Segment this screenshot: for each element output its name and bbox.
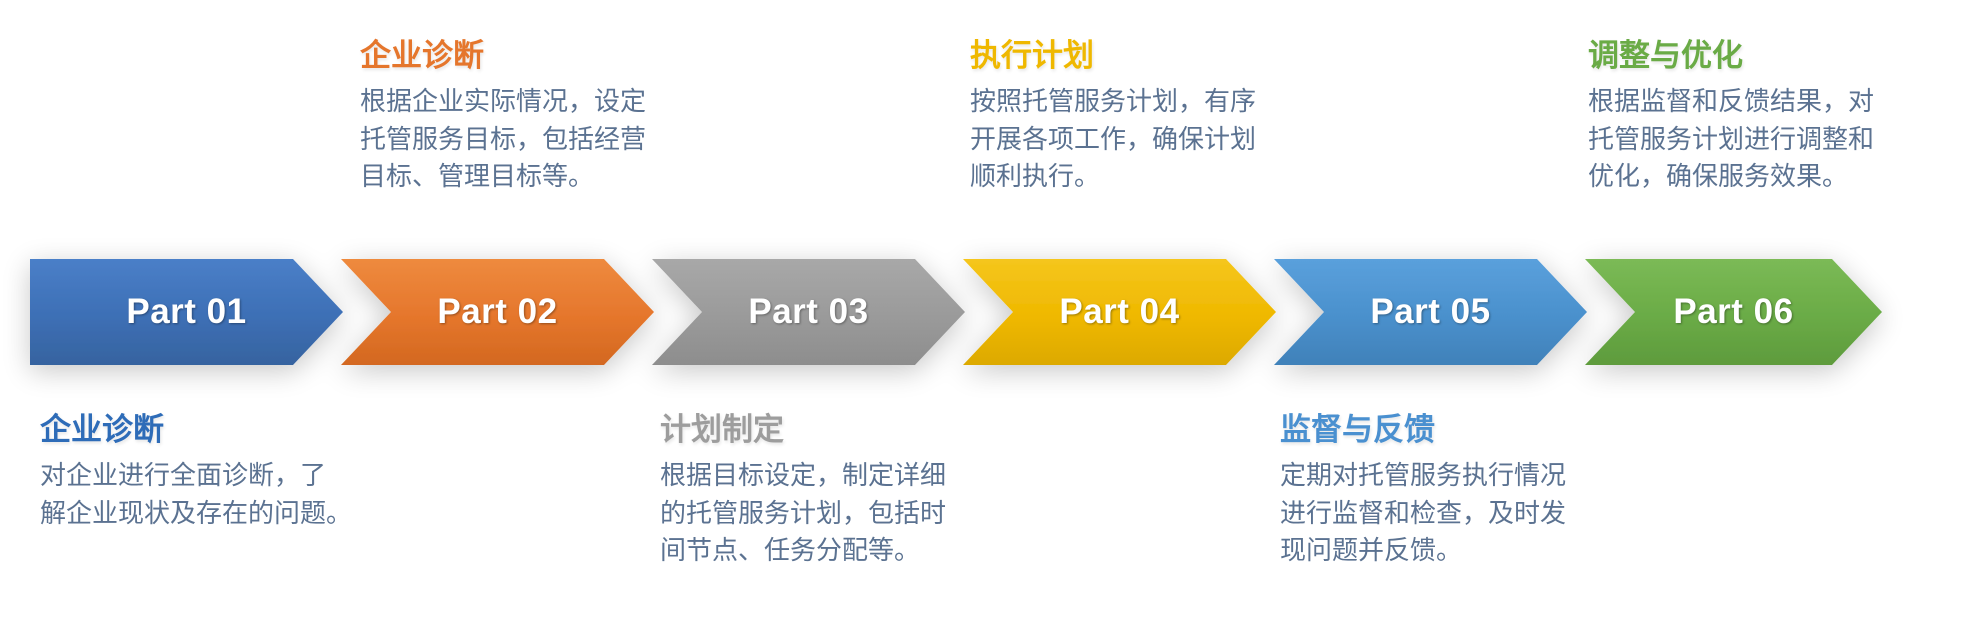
body-line: 现问题并反馈。 bbox=[1280, 532, 1610, 570]
chevron-shape-part-02[interactable] bbox=[341, 259, 654, 365]
body-line: 对企业进行全面诊断，了 bbox=[40, 457, 370, 495]
chevron-shape-part-05[interactable] bbox=[1274, 259, 1587, 365]
body-line: 按照托管服务计划，有序 bbox=[970, 83, 1300, 121]
body-line: 定期对托管服务执行情况 bbox=[1280, 457, 1610, 495]
block-body-part-05: 定期对托管服务执行情况 进行监督和检查，及时发 现问题并反馈。 bbox=[1280, 457, 1610, 571]
text-block-part-06: 调整与优化 根据监督和反馈结果，对 托管服务计划进行调整和 优化，确保服务效果。 bbox=[1588, 38, 1918, 196]
chevron-shape-part-01[interactable] bbox=[30, 259, 343, 365]
block-title-part-06: 调整与优化 bbox=[1588, 38, 1918, 75]
block-title-part-01: 企业诊断 bbox=[40, 412, 370, 449]
body-line: 托管服务目标，包括经营 bbox=[360, 121, 690, 159]
block-body-part-02: 根据企业实际情况，设定 托管服务目标，包括经营 目标、管理目标等。 bbox=[360, 83, 690, 197]
text-block-part-02: 企业诊断 根据企业实际情况，设定 托管服务目标，包括经营 目标、管理目标等。 bbox=[360, 38, 690, 196]
block-title-part-04: 执行计划 bbox=[970, 38, 1300, 75]
body-line: 目标、管理目标等。 bbox=[360, 158, 690, 196]
block-body-part-04: 按照托管服务计划，有序 开展各项工作，确保计划 顺利执行。 bbox=[970, 83, 1300, 197]
chevron-shapes bbox=[30, 259, 1882, 365]
block-title-part-03: 计划制定 bbox=[660, 412, 990, 449]
body-line: 的托管服务计划，包括时 bbox=[660, 495, 990, 533]
text-block-part-04: 执行计划 按照托管服务计划，有序 开展各项工作，确保计划 顺利执行。 bbox=[970, 38, 1300, 196]
chevron-shape-part-03[interactable] bbox=[652, 259, 965, 365]
block-title-part-05: 监督与反馈 bbox=[1280, 412, 1610, 449]
text-block-part-01: 企业诊断 对企业进行全面诊断，了 解企业现状及存在的问题。 bbox=[40, 412, 370, 532]
body-line: 根据监督和反馈结果，对 bbox=[1588, 83, 1918, 121]
block-title-part-02: 企业诊断 bbox=[360, 38, 690, 75]
body-line: 进行监督和检查，及时发 bbox=[1280, 495, 1610, 533]
body-line: 间节点、任务分配等。 bbox=[660, 532, 990, 570]
body-line: 开展各项工作，确保计划 bbox=[970, 121, 1300, 159]
block-body-part-06: 根据监督和反馈结果，对 托管服务计划进行调整和 优化，确保服务效果。 bbox=[1588, 83, 1918, 197]
body-line: 根据目标设定，制定详细 bbox=[660, 457, 990, 495]
text-block-part-03: 计划制定 根据目标设定，制定详细 的托管服务计划，包括时 间节点、任务分配等。 bbox=[660, 412, 990, 570]
chevron-shape-part-04[interactable] bbox=[963, 259, 1276, 365]
body-line: 顺利执行。 bbox=[970, 158, 1300, 196]
body-line: 根据企业实际情况，设定 bbox=[360, 83, 690, 121]
block-body-part-01: 对企业进行全面诊断，了 解企业现状及存在的问题。 bbox=[40, 457, 370, 533]
slide-canvas: Part 01 Part 02 Part 03 Part 04 Part 05 … bbox=[0, 0, 1978, 640]
body-line: 优化，确保服务效果。 bbox=[1588, 158, 1918, 196]
block-body-part-03: 根据目标设定，制定详细 的托管服务计划，包括时 间节点、任务分配等。 bbox=[660, 457, 990, 571]
body-line: 托管服务计划进行调整和 bbox=[1588, 121, 1918, 159]
text-block-part-05: 监督与反馈 定期对托管服务执行情况 进行监督和检查，及时发 现问题并反馈。 bbox=[1280, 412, 1610, 570]
chevron-shape-part-06[interactable] bbox=[1585, 259, 1882, 365]
body-line: 解企业现状及存在的问题。 bbox=[40, 495, 370, 533]
